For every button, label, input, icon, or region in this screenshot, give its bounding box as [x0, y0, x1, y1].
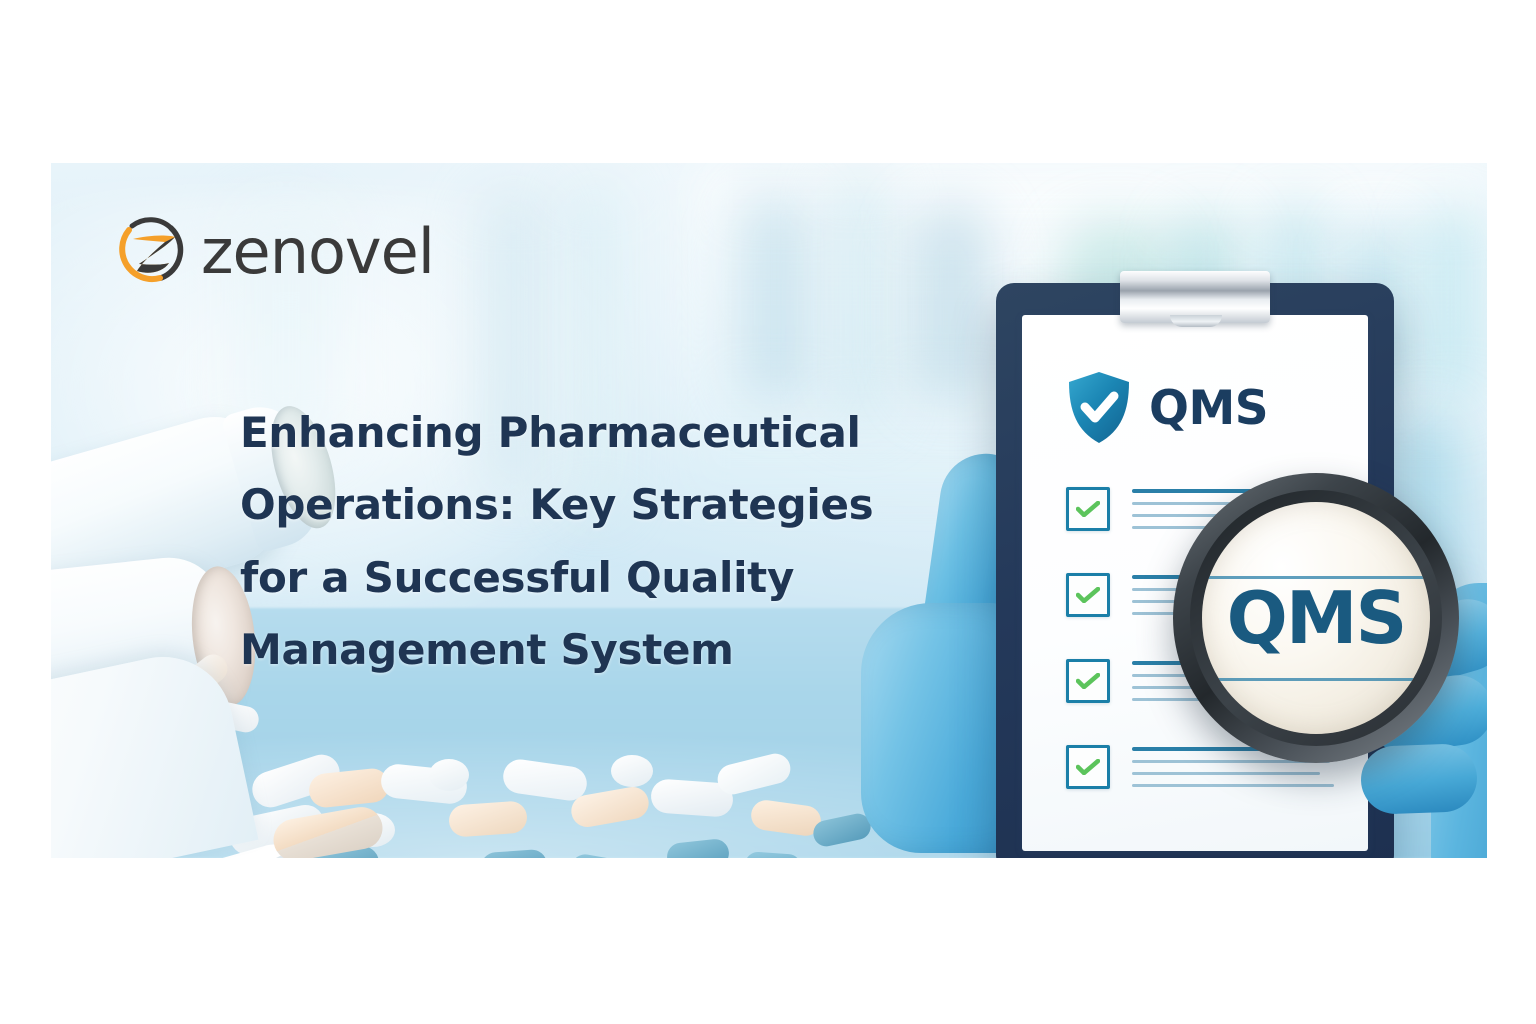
pill [448, 800, 528, 837]
banner-image: QMS [51, 163, 1487, 858]
shield-check-icon [1067, 371, 1131, 445]
checkbox-checked[interactable] [1066, 573, 1110, 617]
title-line-3: for a Successful Quality [240, 542, 940, 614]
check-icon [1076, 673, 1100, 689]
magnifier-lens: QMS [1202, 502, 1430, 734]
zenovel-logo[interactable]: zenovel [113, 215, 434, 289]
check-icon [1076, 587, 1100, 603]
check-icon [1076, 501, 1100, 517]
qms-label: QMS [1149, 385, 1268, 432]
title-line-1: Enhancing Pharmaceutical [240, 397, 940, 469]
pill-tablet [429, 759, 469, 791]
zenovel-z-mark-icon [113, 215, 187, 289]
magnified-line [1202, 678, 1430, 681]
zenovel-wordmark: zenovel [201, 221, 434, 283]
checkbox-checked[interactable] [1066, 487, 1110, 531]
magnified-qms-text: QMS [1227, 576, 1406, 660]
checkbox-checked[interactable] [1066, 659, 1110, 703]
magnifying-glass: QMS [1173, 473, 1459, 763]
pill-tablet [611, 755, 653, 787]
clipboard-clip-tab [1170, 315, 1222, 327]
qms-header: QMS [1067, 371, 1268, 445]
page-canvas: QMS [0, 0, 1536, 1024]
title-line-2: Operations: Key Strategies [240, 469, 940, 541]
page-title: Enhancing Pharmaceutical Operations: Key… [240, 397, 940, 686]
clipboard-clip [1120, 271, 1270, 323]
check-icon [1076, 759, 1100, 775]
title-line-4: Management System [240, 614, 940, 686]
checkbox-checked[interactable] [1066, 745, 1110, 789]
